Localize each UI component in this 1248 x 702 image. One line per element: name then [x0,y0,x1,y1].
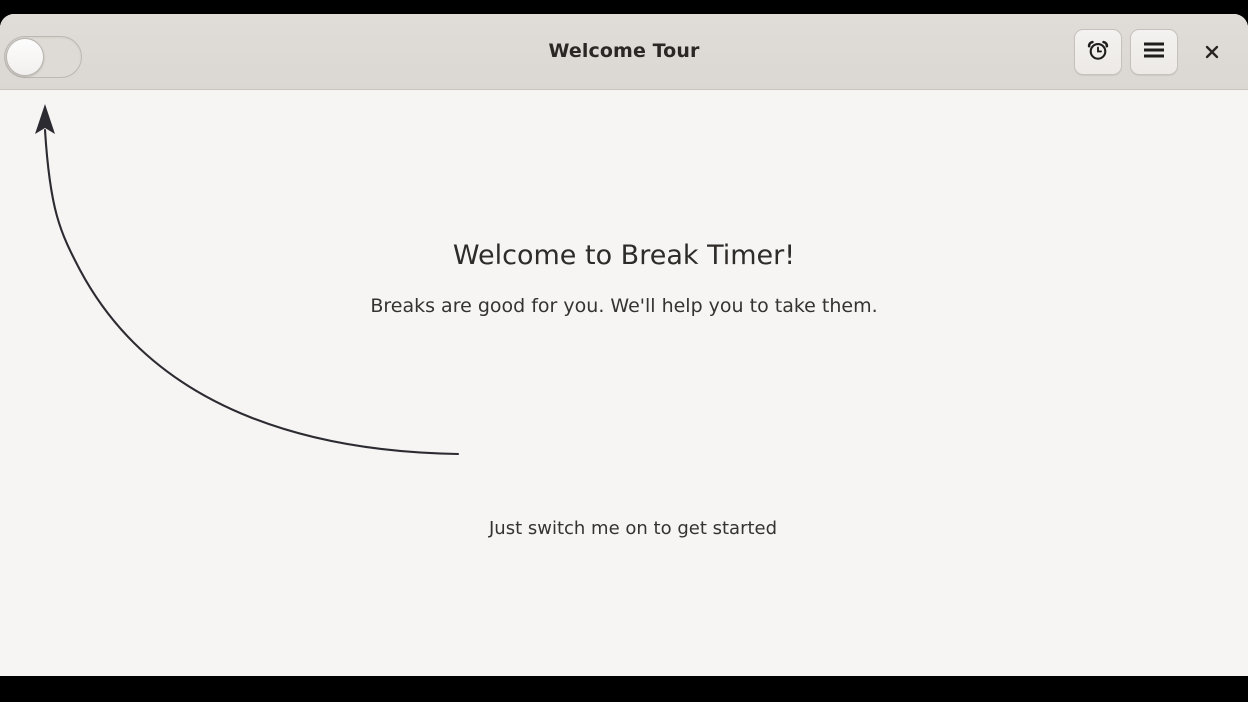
alarm-clock-icon [1086,38,1110,66]
alarm-clock-button[interactable] [1074,29,1122,75]
titlebar: Welcome Tour [0,14,1248,90]
curved-pointer-arrow [0,90,520,510]
close-button[interactable] [1190,29,1234,75]
menu-button[interactable] [1130,29,1178,75]
content-area: Welcome to Break Timer! Breaks are good … [0,90,1248,676]
page-subtitle: Breaks are good for you. We'll help you … [0,295,1248,317]
hero-block: Welcome to Break Timer! Breaks are good … [0,90,1248,317]
window-title: Welcome Tour [0,14,1248,89]
close-icon [1203,43,1221,61]
hamburger-menu-icon [1142,41,1166,63]
screen: Welcome Tour [0,0,1248,702]
titlebar-buttons [1074,14,1248,89]
welcome-tour-window: Welcome Tour [0,14,1248,676]
page-title: Welcome to Break Timer! [0,240,1248,271]
tip-label: Just switch me on to get started [489,518,777,539]
